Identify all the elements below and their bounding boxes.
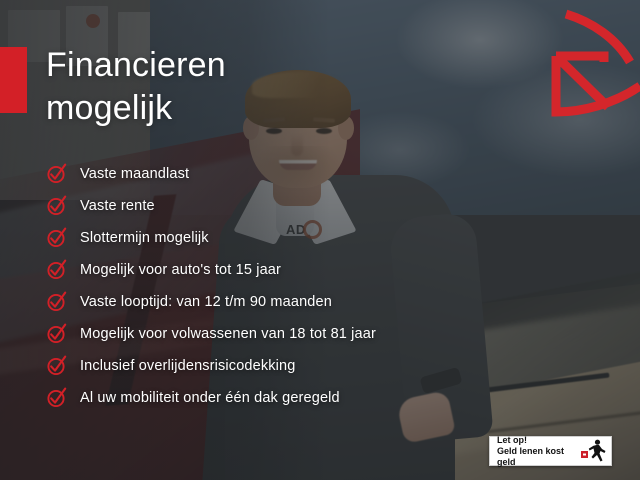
red-curved-arrow-icon [530, 0, 640, 130]
credit-warning-badge: Let op! Geld lenen kost geld [489, 436, 612, 466]
warning-text: Let op! Geld lenen kost geld [497, 435, 578, 468]
feature-label: Mogelijk voor volwassenen van 18 tot 81 … [80, 326, 376, 342]
page-title: Financieren mogelijk [46, 44, 226, 130]
feature-item: Vaste maandlast [46, 158, 376, 190]
feature-label: Mogelijk voor auto's tot 15 jaar [80, 262, 281, 278]
check-circle-icon [46, 387, 68, 409]
feature-item: Mogelijk voor volwassenen van 18 tot 81 … [46, 318, 376, 350]
check-circle-icon [46, 227, 68, 249]
feature-item: Mogelijk voor auto's tot 15 jaar [46, 254, 376, 286]
feature-item: Inclusief overlijdensrisicodekking [46, 350, 376, 382]
warning-line-1: Let op! [497, 435, 578, 446]
red-accent-block [0, 47, 27, 113]
feature-label: Vaste maandlast [80, 166, 189, 182]
feature-label: Slottermijn mogelijk [80, 230, 209, 246]
feature-item: Slottermijn mogelijk [46, 222, 376, 254]
banner-content: Financieren mogelijk Vaste maandlastVast… [0, 0, 640, 480]
feature-item: Vaste looptijd: van 12 t/m 90 maanden [46, 286, 376, 318]
check-circle-icon [46, 259, 68, 281]
feature-label: Inclusief overlijdensrisicodekking [80, 358, 295, 374]
feature-label: Al uw mobiliteit onder één dak geregeld [80, 390, 340, 406]
title-line-1: Financieren [46, 44, 226, 87]
feature-label: Vaste looptijd: van 12 t/m 90 maanden [80, 294, 332, 310]
feature-item: Al uw mobiliteit onder één dak geregeld [46, 382, 376, 414]
title-line-2: mogelijk [46, 87, 226, 130]
check-circle-icon [46, 355, 68, 377]
check-circle-icon [46, 195, 68, 217]
check-circle-icon [46, 291, 68, 313]
feature-item: Vaste rente [46, 190, 376, 222]
feature-list: Vaste maandlastVaste renteSlottermijn mo… [46, 158, 376, 414]
feature-label: Vaste rente [80, 198, 155, 214]
check-circle-icon [46, 163, 68, 185]
warning-line-2: Geld lenen kost geld [497, 446, 578, 468]
check-circle-icon [46, 323, 68, 345]
walking-person-icon [581, 439, 607, 463]
